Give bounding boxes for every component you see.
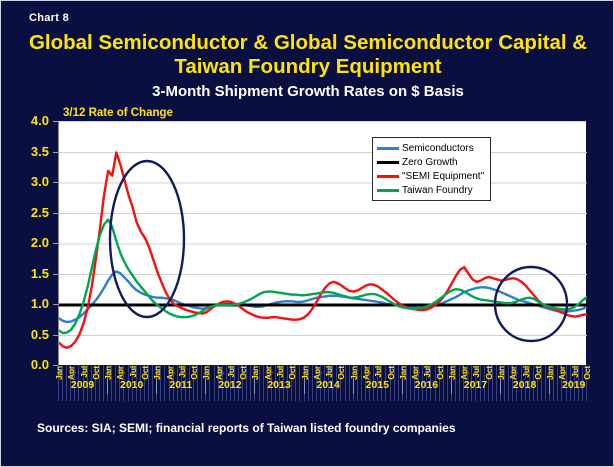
y-axis-tick-label: 4.0 <box>9 113 49 128</box>
title-block: Global Semiconductor & Global Semiconduc… <box>1 31 614 100</box>
title-line-1: Global Semiconductor & Global Semiconduc… <box>29 31 587 54</box>
legend-color-swatch <box>377 175 399 178</box>
year-separator <box>107 378 108 394</box>
gridlines <box>59 153 587 336</box>
legend-item-label: Taiwan Foundry <box>402 185 473 196</box>
y-axis-tick-label: 2.0 <box>9 235 49 250</box>
x-axis-year-label: 2016 <box>402 379 451 391</box>
y-axis-tick-label: 1.0 <box>9 296 49 311</box>
chart-plot <box>59 122 587 366</box>
x-axis-year-label: 2019 <box>549 379 598 391</box>
year-separator <box>304 378 305 394</box>
page-subtitle: 3-Month Shipment Growth Rates on $ Basis <box>1 83 614 100</box>
y-axis-tick-label: 0.0 <box>9 357 49 372</box>
y-axis-tick-label: 1.5 <box>9 266 49 281</box>
page-title: Global Semiconductor & Global Semiconduc… <box>1 31 614 79</box>
legend-item-label: Zero Growth <box>402 157 458 168</box>
x-axis-year-label: 2014 <box>304 379 353 391</box>
year-separator <box>205 378 206 394</box>
legend-item[interactable]: Semiconductors <box>377 141 484 155</box>
y-axis-tick-label: 2.5 <box>9 205 49 220</box>
year-separator <box>402 378 403 394</box>
title-line-2: Taiwan Foundry Equipment <box>174 55 441 78</box>
legend-item-label: Semiconductors <box>402 143 474 154</box>
plot-area <box>58 121 586 365</box>
legend-item[interactable]: "SEMI Equipment" <box>377 169 484 183</box>
legend-color-swatch <box>377 147 399 150</box>
year-separator <box>353 378 354 394</box>
annotation-ellipses <box>110 161 567 341</box>
legend-color-swatch <box>377 161 399 164</box>
y-axis-title: 3/12 Rate of Change <box>63 107 173 119</box>
legend-item[interactable]: Zero Growth <box>377 155 484 169</box>
y-axis-tick-label: 3.0 <box>9 174 49 189</box>
year-separator <box>549 378 550 394</box>
sources-footnote: Sources: SIA; SEMI; financial reports of… <box>37 421 456 435</box>
legend-item[interactable]: Taiwan Foundry <box>377 183 484 197</box>
x-axis-year-label: 2009 <box>58 379 107 391</box>
legend-item-label: "SEMI Equipment" <box>402 171 484 182</box>
x-axis-year-label: 2018 <box>500 379 549 391</box>
x-axis-years: 2009201020112012201320142015201620172018… <box>58 379 586 397</box>
slide-canvas: Chart 8 Global Semiconductor & Global Se… <box>0 0 614 467</box>
x-axis-year-label: 2017 <box>451 379 500 391</box>
x-axis-month-label: Oct <box>582 366 592 380</box>
x-axis-year-label: 2012 <box>205 379 254 391</box>
year-separator <box>254 378 255 394</box>
y-axis-tick-label: 0.5 <box>9 327 49 342</box>
series-line <box>59 153 587 348</box>
series-lines <box>59 153 587 348</box>
chart-number-label: Chart 8 <box>29 12 69 24</box>
legend-color-swatch <box>377 189 399 192</box>
year-separator <box>156 378 157 394</box>
x-axis-year-label: 2015 <box>353 379 402 391</box>
x-axis-year-label: 2013 <box>254 379 303 391</box>
chart-legend: SemiconductorsZero Growth"SEMI Equipment… <box>372 137 491 201</box>
year-separator <box>451 378 452 394</box>
y-axis-tick-label: 3.5 <box>9 144 49 159</box>
x-axis-year-label: 2010 <box>107 379 156 391</box>
year-separator <box>500 378 501 394</box>
x-axis-year-label: 2011 <box>156 379 205 391</box>
